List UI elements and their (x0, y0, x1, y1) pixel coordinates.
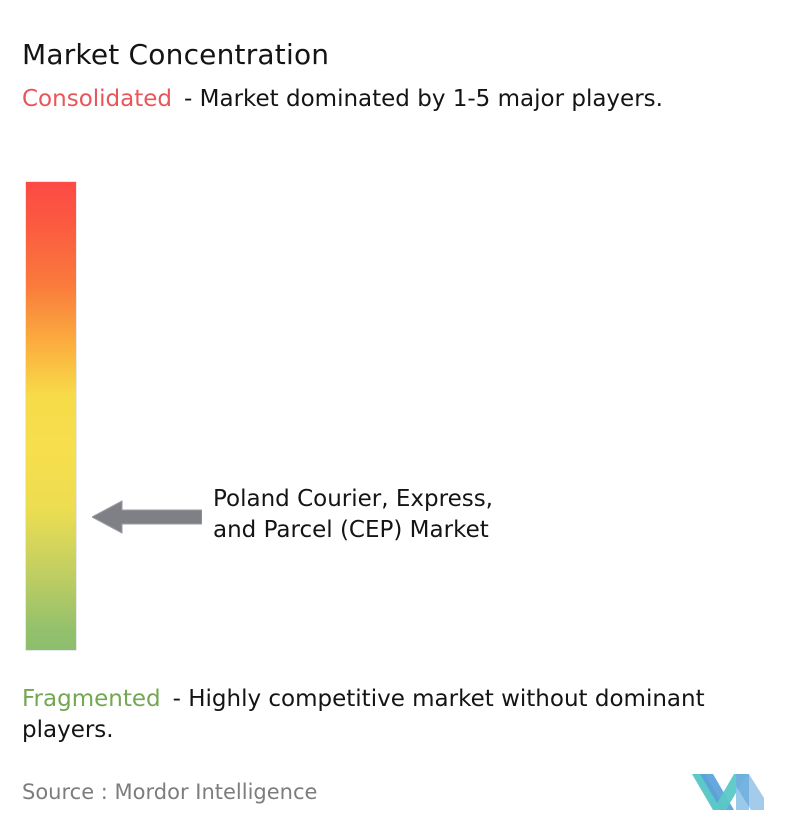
legend-fragmented: Fragmented- Highly competitive market wi… (22, 684, 790, 746)
page-title: Market Concentration (22, 37, 329, 72)
legend-term-fragmented: Fragmented (22, 686, 161, 712)
legend-description-consolidated: - Market dominated by 1-5 major players. (184, 86, 663, 112)
legend-term-consolidated: Consolidated (22, 86, 172, 112)
legend-consolidated: Consolidated- Market dominated by 1-5 ma… (22, 84, 774, 115)
callout-label-line-1: Poland Courier, Express, (213, 484, 633, 515)
logo-icon (692, 770, 764, 814)
left-arrow-icon (92, 498, 202, 536)
callout-label: Poland Courier, Express, and Parcel (CEP… (213, 484, 633, 546)
source-attribution: Source : Mordor Intelligence (22, 780, 317, 804)
callout-label-line-2: and Parcel (CEP) Market (213, 515, 633, 546)
pointer-arrow (92, 498, 202, 536)
market-concentration-gradient-bar (26, 182, 76, 650)
mordor-intelligence-logo (692, 770, 764, 814)
